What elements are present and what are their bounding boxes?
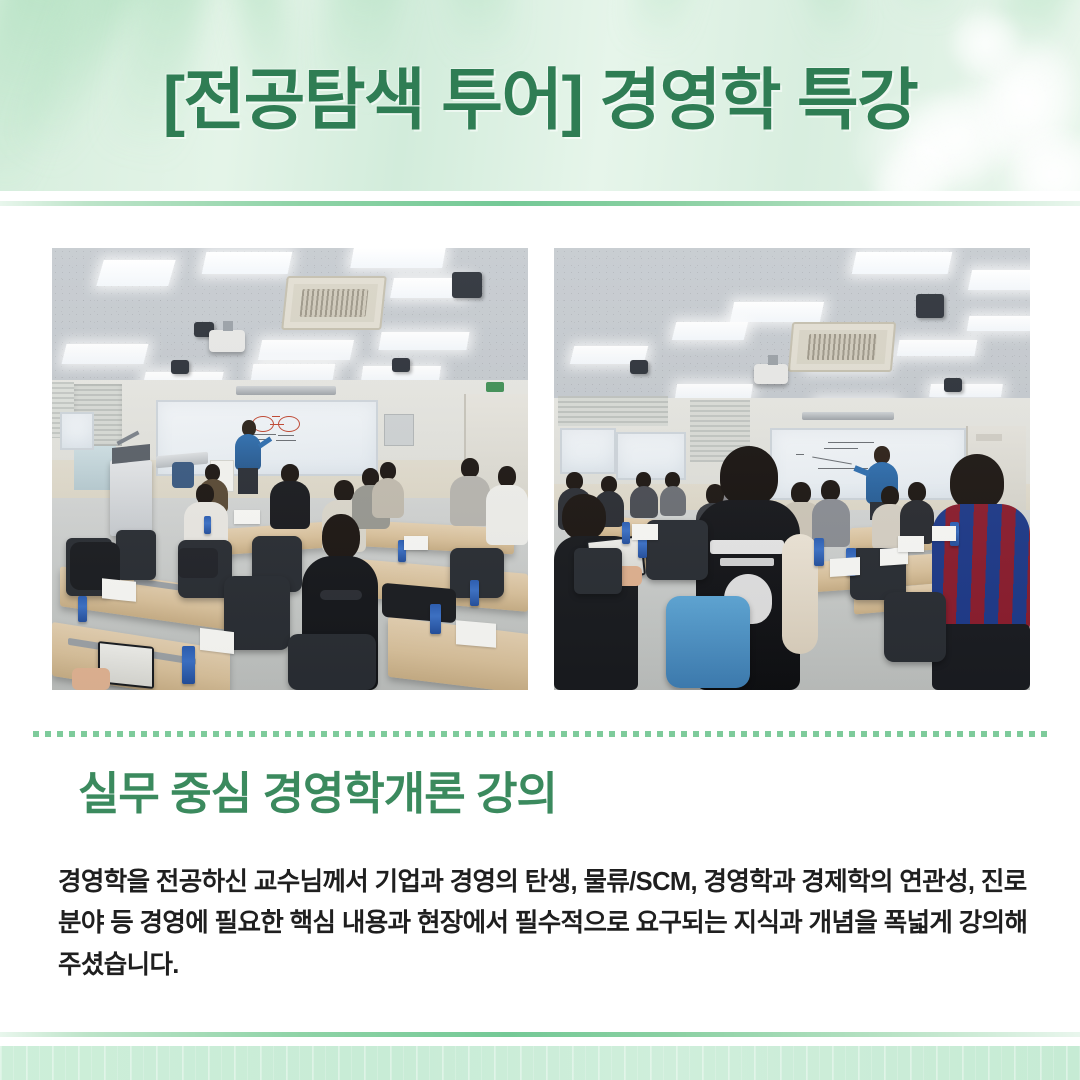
top-divider-rule xyxy=(0,201,1080,206)
side-whiteboard xyxy=(60,412,94,450)
ceiling-projector xyxy=(209,330,245,352)
ceiling-lamp xyxy=(730,302,824,322)
whiteboard-text-line xyxy=(824,448,858,449)
ceiling-lamp xyxy=(675,384,753,398)
student-head xyxy=(562,494,606,540)
whiteboard-text-line xyxy=(276,440,296,441)
whiteboard-red-stroke xyxy=(272,416,280,417)
dotted-divider xyxy=(33,731,1047,737)
exit-sign-icon xyxy=(486,382,504,392)
student-figure xyxy=(450,458,490,528)
ceiling-lamp xyxy=(672,322,748,340)
student-torso xyxy=(372,478,404,518)
name-tent-card xyxy=(456,620,496,647)
student-head xyxy=(196,484,214,504)
student-head xyxy=(322,514,360,560)
student-figure xyxy=(812,480,850,546)
photo-classroom-students xyxy=(554,248,1030,690)
backpack xyxy=(382,583,456,623)
student-head xyxy=(908,482,926,502)
beverage-can xyxy=(204,516,211,534)
beverage-can xyxy=(182,646,195,684)
name-tent-card xyxy=(898,536,924,552)
student-figure xyxy=(900,482,934,542)
student-figure xyxy=(486,466,528,546)
office-chair xyxy=(288,634,376,690)
ceiling-speaker xyxy=(392,358,410,372)
ceiling-lamp xyxy=(96,260,175,286)
student-lower-body xyxy=(932,624,1030,690)
student-figure xyxy=(372,462,404,518)
ceiling-ac-vent xyxy=(788,322,896,372)
student-torso xyxy=(450,476,490,526)
ceiling-speaker xyxy=(452,272,482,298)
whiteboard-text-line xyxy=(828,442,874,443)
ceiling-lamp xyxy=(968,270,1030,290)
ceiling-lamp xyxy=(967,316,1030,331)
page-title: [전공탐색 투어] 경영학 특강 xyxy=(0,0,1080,191)
student-head xyxy=(821,480,840,501)
name-tent-card xyxy=(632,524,658,540)
student-head xyxy=(334,480,354,502)
ceiling-lamp xyxy=(258,340,354,360)
side-whiteboard xyxy=(560,428,616,474)
beverage-can xyxy=(470,580,479,606)
wall-control-panel xyxy=(384,414,414,446)
poster-card: [전공탐색 투어] 경영학 특강 xyxy=(0,0,1080,1080)
whiteboard-text-line xyxy=(278,435,294,436)
office-chair xyxy=(574,548,622,594)
door-sign xyxy=(976,434,1002,441)
whiteboard-red-stroke xyxy=(270,424,284,425)
whiteboard-text-line xyxy=(812,457,852,465)
jacket-hood xyxy=(320,590,362,600)
ceiling-lamp xyxy=(929,384,1003,397)
ceiling-lamp xyxy=(350,248,446,268)
student-head xyxy=(881,486,899,506)
window-blinds xyxy=(558,396,668,426)
student-head xyxy=(498,466,516,487)
office-chair-blue xyxy=(666,596,750,688)
photo-gallery xyxy=(52,248,1030,690)
body-paragraph: 경영학을 전공하신 교수님께서 기업과 경영의 탄생, 물류/SCM, 경영학과… xyxy=(58,862,1030,986)
ceiling-projector xyxy=(754,364,788,384)
ceiling-speaker xyxy=(630,360,648,374)
backpack xyxy=(178,548,218,578)
name-tent-card xyxy=(830,557,860,577)
beverage-can xyxy=(814,538,824,566)
ceiling-lamp xyxy=(897,340,978,356)
student-torso xyxy=(660,486,686,516)
student-soccer-jersey xyxy=(932,454,1030,690)
student-head xyxy=(950,454,1004,510)
student-torso xyxy=(486,485,528,545)
ceiling-ac-vent xyxy=(281,276,387,330)
footer-bar xyxy=(0,1046,1080,1080)
projection-screen-roll xyxy=(236,386,336,395)
beverage-can xyxy=(622,522,630,544)
office-chair xyxy=(884,592,946,662)
ceiling-speaker xyxy=(916,294,944,318)
beverage-can xyxy=(430,604,441,634)
ceiling-lamp xyxy=(202,252,293,274)
ceiling-lamp xyxy=(852,252,953,274)
name-tent-card xyxy=(404,536,428,550)
lecturer-shirt xyxy=(235,434,261,470)
podium-cabinet xyxy=(110,460,152,536)
ceiling-lamp xyxy=(251,364,336,380)
section-subtitle: 실무 중심 경영학개론 강의 xyxy=(78,768,557,820)
header-banner: [전공탐색 투어] 경영학 특강 xyxy=(0,0,1080,191)
photo-classroom-wide xyxy=(52,248,528,690)
name-tent-card xyxy=(234,510,260,524)
student-head xyxy=(720,446,778,506)
name-tent-card xyxy=(932,526,956,541)
ceiling-speaker xyxy=(171,360,189,374)
ceiling-lamp xyxy=(62,344,149,364)
projection-screen-roll xyxy=(802,412,894,420)
jacket-text-hankyong xyxy=(710,540,784,554)
ceiling-speaker xyxy=(944,378,962,392)
lecturer-figure xyxy=(234,420,264,494)
office-chair xyxy=(116,530,156,580)
jacket-sleeve xyxy=(782,534,818,654)
soccer-jersey xyxy=(932,504,1030,632)
student-head xyxy=(461,458,479,478)
beverage-can xyxy=(78,596,87,622)
name-tent-card xyxy=(102,578,136,602)
hand xyxy=(72,668,110,690)
name-tent-card xyxy=(200,628,234,654)
lecturer-trousers xyxy=(238,468,258,494)
student-figure xyxy=(660,472,686,516)
ceiling-lamp xyxy=(378,332,469,350)
bottom-divider-rule xyxy=(0,1032,1080,1037)
jacket-text-national-univ xyxy=(720,558,774,566)
